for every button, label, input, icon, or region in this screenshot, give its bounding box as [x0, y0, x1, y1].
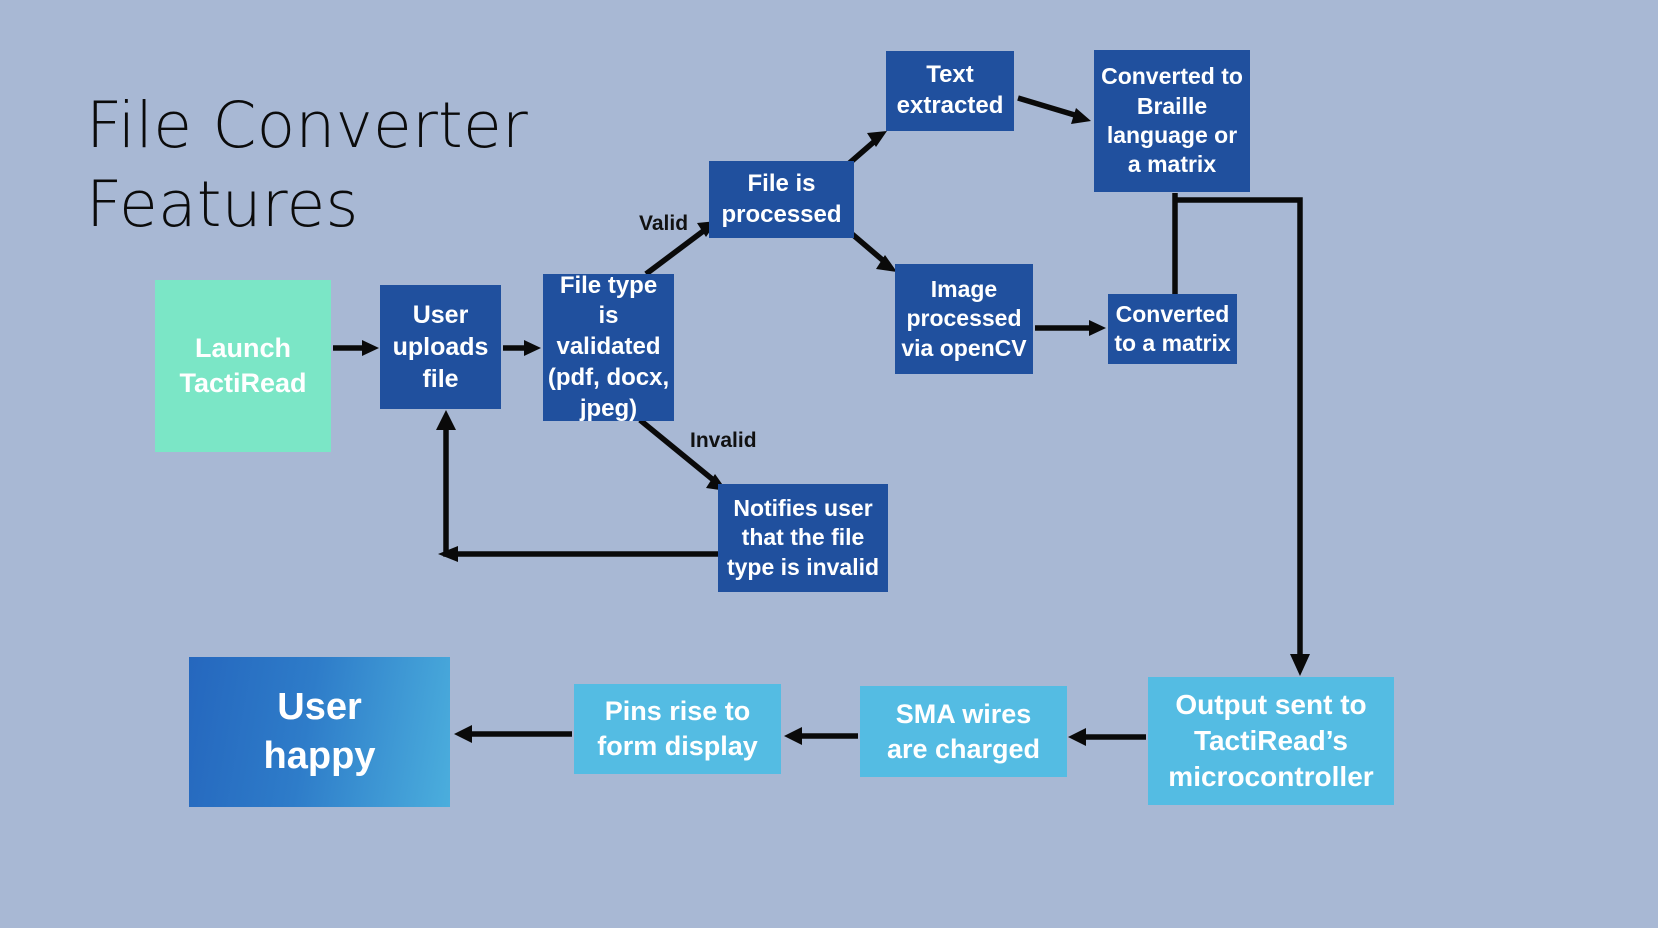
edge-launch-to-upload — [333, 340, 379, 356]
node-user-uploads-file[interactable]: User uploads file — [380, 285, 501, 409]
node-image-processed-opencv[interactable]: Image processed via openCV — [895, 264, 1033, 374]
node-file-type-validated[interactable]: File type is validated (pdf, docx, jpeg) — [543, 274, 674, 421]
edge-label-valid: Valid — [639, 212, 688, 236]
node-output-sent-microcontroller[interactable]: Output sent to TactiRead’s microcontroll… — [1148, 677, 1394, 805]
edge-upload-to-validate — [503, 340, 541, 356]
edge-text-to-braille — [1018, 98, 1091, 124]
edge-braille-to-output — [1175, 200, 1310, 676]
edge-sma-to-pins — [784, 727, 858, 745]
node-sma-wires-charged[interactable]: SMA wires are charged — [860, 686, 1067, 777]
node-launch-tactiread[interactable]: Launch TactiRead — [155, 280, 331, 452]
edge-notify-to-upload — [436, 410, 718, 562]
edge-output-to-sma — [1068, 728, 1146, 746]
page-title: File Converter Features — [86, 86, 646, 245]
edge-image-to-matrix — [1035, 320, 1106, 336]
edge-pins-to-happy — [454, 725, 572, 743]
node-converted-to-braille[interactable]: Converted to Braille language or a matri… — [1094, 50, 1250, 192]
slide-canvas: File Converter Features — [0, 0, 1658, 928]
node-file-is-processed[interactable]: File is processed — [709, 161, 854, 238]
node-converted-to-matrix[interactable]: Converted to a matrix — [1108, 294, 1237, 364]
node-pins-rise-form-display[interactable]: Pins rise to form display — [574, 684, 781, 774]
node-notifies-user-invalid[interactable]: Notifies user that the file type is inva… — [718, 484, 888, 592]
edge-label-invalid: Invalid — [690, 429, 757, 453]
node-text-extracted[interactable]: Text extracted — [886, 51, 1014, 131]
node-user-happy[interactable]: User happy — [189, 657, 450, 807]
